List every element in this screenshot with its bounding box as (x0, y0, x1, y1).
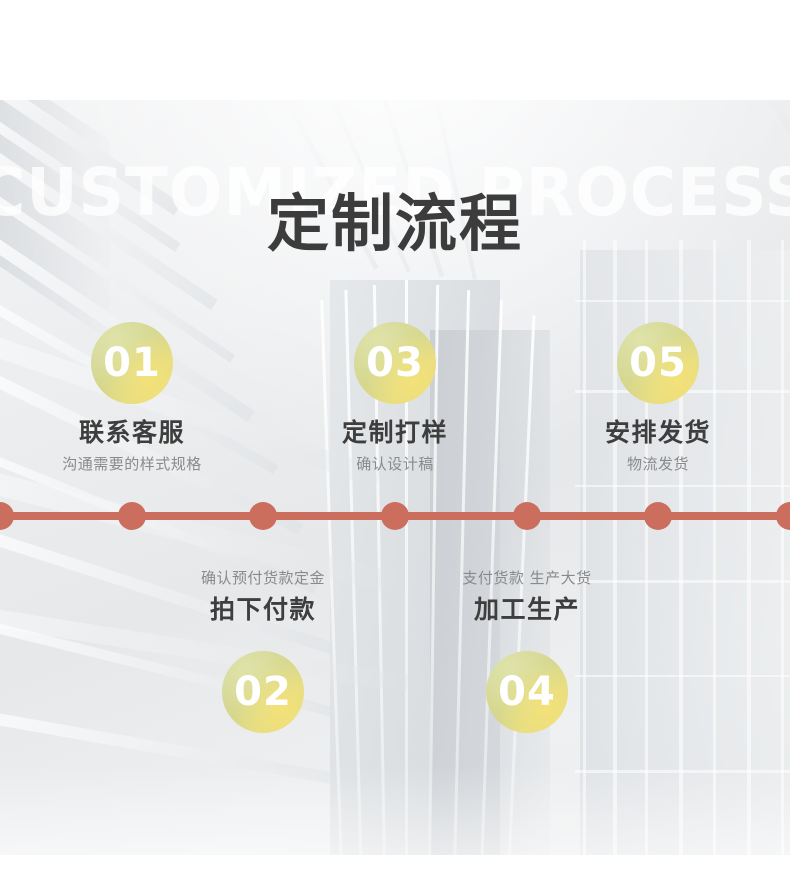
step-number-01: 01 (103, 340, 161, 386)
timeline-dot (381, 502, 409, 530)
photo-bottom-fade (0, 765, 790, 855)
step-number-03: 03 (366, 340, 424, 386)
step-title-05: 安排发货 (538, 418, 778, 448)
step-circle-03: 03 (354, 322, 436, 404)
step-circle-02: 02 (222, 651, 304, 733)
step-circle-01: 01 (91, 322, 173, 404)
timeline-dot (644, 502, 672, 530)
timeline-dot (118, 502, 146, 530)
timeline-dot (513, 502, 541, 530)
step-desc-01: 沟通需要的样式规格 (12, 453, 252, 475)
step-item-04: 支付货款 生产大货 加工生产 (407, 567, 647, 625)
page-title: 定制流程 (0, 189, 790, 259)
step-title-01: 联系客服 (12, 418, 252, 448)
step-number-04: 04 (498, 669, 556, 715)
step-number-05: 05 (629, 340, 687, 386)
step-title-02: 拍下付款 (143, 595, 383, 625)
step-title-04: 加工生产 (407, 595, 647, 625)
customized-process-banner: CUSTOMIZED PROCESS 定制流程 01 联系客服 沟通需要的样式规… (0, 0, 790, 892)
timeline-dot (249, 502, 277, 530)
step-desc-02: 确认预付货款定金 (143, 567, 383, 589)
step-item-03: 定制打样 确认设计稿 (275, 418, 515, 475)
step-circle-05: 05 (617, 322, 699, 404)
step-desc-05: 物流发货 (538, 453, 778, 475)
step-number-02: 02 (234, 669, 292, 715)
step-desc-03: 确认设计稿 (275, 453, 515, 475)
step-item-01: 联系客服 沟通需要的样式规格 (12, 418, 252, 475)
step-title-03: 定制打样 (275, 418, 515, 448)
step-desc-04: 支付货款 生产大货 (407, 567, 647, 589)
step-circle-04: 04 (486, 651, 568, 733)
step-item-05: 安排发货 物流发货 (538, 418, 778, 475)
step-item-02: 确认预付货款定金 拍下付款 (143, 567, 383, 625)
